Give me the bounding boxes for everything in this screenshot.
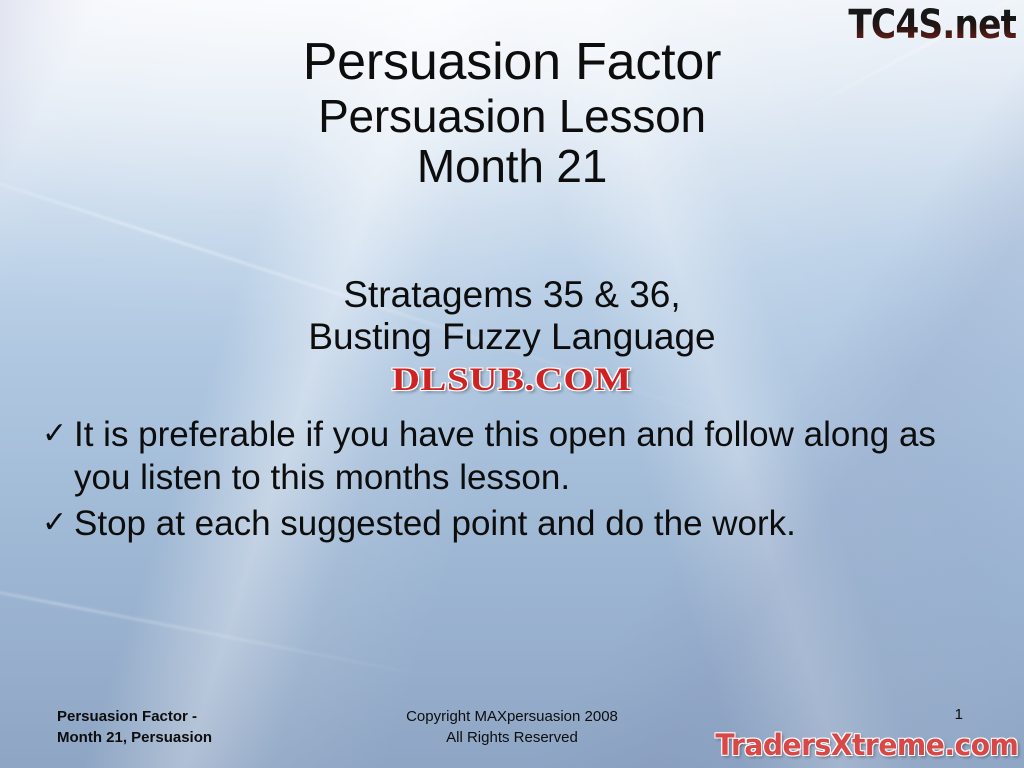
checkmark-icon: ✓: [42, 414, 74, 453]
presentation-slide: Persuasion Factor Persuasion Lesson Mont…: [0, 0, 1024, 768]
bullet-item: ✓ Stop at each suggested point and do th…: [42, 503, 972, 546]
subtitle-line-2: Busting Fuzzy Language: [0, 316, 1024, 358]
tradersxtreme-logo: TradersXtreme.com: [715, 728, 1018, 762]
title-line-2: Persuasion Lesson: [0, 93, 1024, 140]
copyright-line-1: Copyright MAXpersuasion 2008: [0, 706, 1024, 727]
slide-content: Persuasion Factor Persuasion Lesson Mont…: [0, 0, 1024, 768]
bullet-list: ✓ It is preferable if you have this open…: [42, 414, 972, 550]
dlsub-watermark-text: DLSUB.COM: [392, 362, 632, 399]
slide-title: Persuasion Factor Persuasion Lesson Mont…: [0, 36, 1024, 190]
bullet-item-text: It is preferable if you have this open a…: [74, 414, 972, 499]
subtitle-line-1: Stratagems 35 & 36,: [0, 274, 1024, 316]
checkmark-icon: ✓: [42, 503, 74, 542]
tc4s-logo: TC4S.net: [848, 2, 1016, 48]
slide-number: 1: [955, 706, 963, 723]
slide-subtitle: Stratagems 35 & 36, Busting Fuzzy Langua…: [0, 274, 1024, 358]
bullet-item-text: Stop at each suggested point and do the …: [74, 503, 972, 546]
title-line-3: Month 21: [0, 143, 1024, 190]
bullet-item: ✓ It is preferable if you have this open…: [42, 414, 972, 499]
dlsub-watermark: DLSUB.COM: [0, 362, 1024, 399]
